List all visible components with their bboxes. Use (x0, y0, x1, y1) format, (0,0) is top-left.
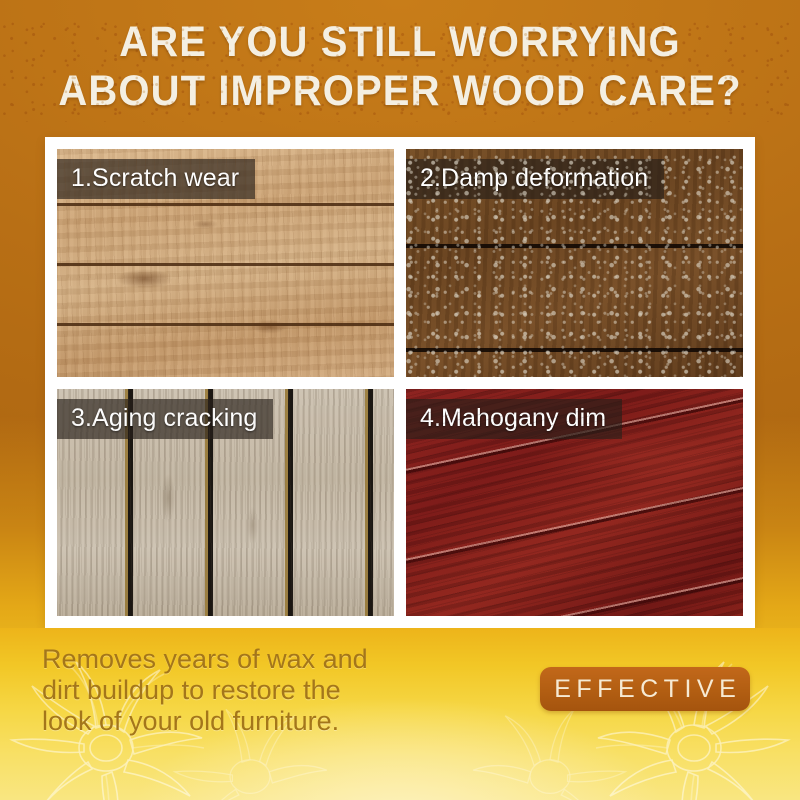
panel-caption-2: 2.Damp deformation (406, 159, 664, 199)
panel-mahogany-dim[interactable]: 4.Mahogany dim (406, 389, 743, 617)
panel-caption-1: 1.Scratch wear (57, 159, 255, 199)
photo-grid: 1.Scratch wear 2.Damp deformation 3.Agin… (57, 149, 743, 616)
effective-badge: EFFECTIVE (540, 667, 750, 711)
panel-caption-4: 4.Mahogany dim (406, 399, 622, 439)
promo-poster: ARE YOU STILL WORRYING ABOUT IMPROPER WO… (0, 0, 800, 800)
panel-aging-cracking[interactable]: 3.Aging cracking (57, 389, 394, 617)
page-title: ARE YOU STILL WORRYING ABOUT IMPROPER WO… (28, 18, 772, 116)
effective-badge-label: EFFECTIVE (549, 675, 742, 704)
footer-band: Removes years of wax and dirt buildup to… (0, 628, 800, 800)
panel-damp-deformation[interactable]: 2.Damp deformation (406, 149, 743, 377)
panel-scratch-wear[interactable]: 1.Scratch wear (57, 149, 394, 377)
panel-caption-3: 3.Aging cracking (57, 399, 273, 439)
photo-grid-frame: 1.Scratch wear 2.Damp deformation 3.Agin… (45, 137, 755, 628)
footer-body-copy: Removes years of wax and dirt buildup to… (42, 644, 442, 737)
